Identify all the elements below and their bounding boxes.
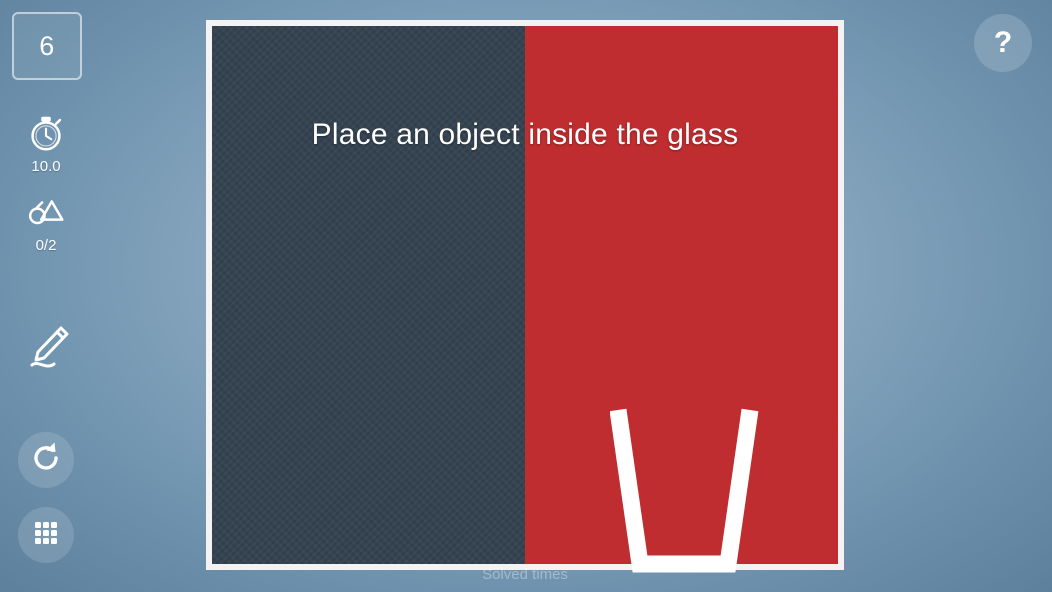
level-badge: 6	[12, 12, 82, 80]
goal-text: Place an object inside the glass	[212, 118, 838, 152]
solved-times-label: Solved times	[206, 566, 844, 583]
shapes-icon	[23, 189, 69, 235]
restart-icon	[26, 438, 66, 483]
hud: 10.0 0/2	[0, 110, 92, 254]
restart-button[interactable]	[18, 432, 74, 488]
glass-shape	[610, 406, 760, 578]
grid-icon	[26, 513, 66, 558]
question-icon: ?	[994, 26, 1012, 60]
timer-value: 10.0	[31, 158, 60, 175]
level-number: 6	[39, 31, 55, 62]
objects-value: 0/2	[36, 237, 57, 254]
stopwatch-icon	[23, 110, 69, 156]
timer-group: 10.0	[23, 110, 69, 175]
panel-left	[212, 26, 525, 564]
draw-tool-button[interactable]	[20, 320, 76, 376]
game-screen: 6 10.0	[0, 0, 1052, 592]
play-area[interactable]: Place an object inside the glass	[206, 20, 844, 570]
pencil-icon	[20, 318, 76, 379]
objects-group: 0/2	[23, 189, 69, 254]
help-button[interactable]: ?	[974, 14, 1032, 72]
levels-button[interactable]	[18, 507, 74, 563]
